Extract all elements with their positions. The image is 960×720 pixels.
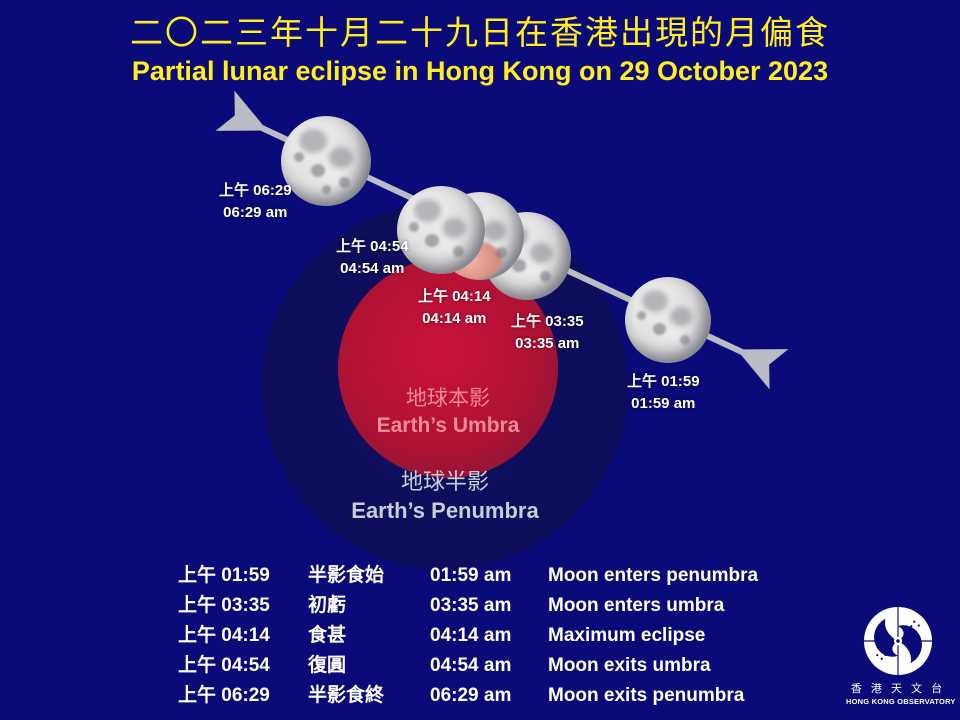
row-3-term-chinese: 復圓 — [308, 652, 430, 682]
row-0-term-chinese: 半影食始 — [308, 562, 430, 592]
hko-logo-english: HONG KONG OBSERVATORY — [846, 697, 950, 706]
callout-0335: 上午 03:35 03:35 am — [511, 311, 584, 355]
row-0-time-english: 01:59 am — [430, 562, 548, 592]
callout-0159: 上午 01:59 01:59 am — [627, 371, 700, 415]
hko-logo: 香 港 天 文 台 HONG KONG OBSERVATORY — [846, 604, 950, 706]
row-1-description: Moon enters umbra — [548, 592, 778, 622]
table-row: 上午 04:14 食甚 04:14 am Maximum eclipse — [178, 622, 778, 652]
penumbra-label-english: Earth’s Penumbra — [265, 497, 625, 526]
callout-0159-chinese: 上午 01:59 — [627, 371, 700, 393]
umbra-label: 地球本影 Earth’s Umbra — [338, 385, 558, 440]
row-3-description: Moon exits umbra — [548, 652, 778, 682]
eclipse-events-table: 上午 01:59 半影食始 01:59 am Moon enters penum… — [178, 562, 778, 712]
penumbra-label-chinese: 地球半影 — [265, 468, 625, 497]
callout-0335-english: 03:35 am — [511, 333, 584, 355]
row-0-description: Moon enters penumbra — [548, 562, 778, 592]
table-row: 上午 04:54 復圓 04:54 am Moon exits umbra — [178, 652, 778, 682]
callout-0629-english: 06:29 am — [219, 202, 292, 224]
row-2-description: Maximum eclipse — [548, 622, 778, 652]
umbra-label-chinese: 地球本影 — [338, 385, 558, 412]
moon-0454 — [397, 186, 485, 274]
callout-0454-chinese: 上午 04:54 — [336, 236, 409, 258]
callout-0454-english: 04:54 am — [336, 258, 409, 280]
row-0-time-chinese: 上午 01:59 — [178, 562, 308, 592]
callout-0454: 上午 04:54 04:54 am — [336, 236, 409, 280]
callout-0335-chinese: 上午 03:35 — [511, 311, 584, 333]
row-4-term-chinese: 半影食終 — [308, 682, 430, 712]
row-1-time-chinese: 上午 03:35 — [178, 592, 308, 622]
moon-0159 — [625, 277, 711, 363]
page-title: 二〇二三年十月二十九日在香港出現的月偏食 Partial lunar eclip… — [0, 14, 960, 87]
table-row: 上午 01:59 半影食始 01:59 am Moon enters penum… — [178, 562, 778, 592]
row-3-time-english: 04:54 am — [430, 652, 548, 682]
row-2-time-chinese: 上午 04:14 — [178, 622, 308, 652]
table-row: 上午 03:35 初虧 03:35 am Moon enters umbra — [178, 592, 778, 622]
umbra-label-english: Earth’s Umbra — [338, 412, 558, 439]
row-2-time-english: 04:14 am — [430, 622, 548, 652]
penumbra-label: 地球半影 Earth’s Penumbra — [265, 468, 625, 525]
row-1-term-chinese: 初虧 — [308, 592, 430, 622]
observatory-swirl-icon — [861, 604, 935, 678]
moon-0629 — [281, 116, 371, 206]
row-4-description: Moon exits penumbra — [548, 682, 778, 712]
callout-0414: 上午 04:14 04:14 am — [418, 286, 491, 330]
eclipse-infographic: 二〇二三年十月二十九日在香港出現的月偏食 Partial lunar eclip… — [0, 0, 960, 720]
row-4-time-chinese: 上午 06:29 — [178, 682, 308, 712]
callout-0629: 上午 06:29 06:29 am — [219, 180, 292, 224]
row-4-time-english: 06:29 am — [430, 682, 548, 712]
callout-0414-chinese: 上午 04:14 — [418, 286, 491, 308]
callout-0159-english: 01:59 am — [627, 393, 700, 415]
callout-0629-chinese: 上午 06:29 — [219, 180, 292, 202]
table-row: 上午 06:29 半影食終 06:29 am Moon exits penumb… — [178, 682, 778, 712]
row-1-time-english: 03:35 am — [430, 592, 548, 622]
page-title-chinese: 二〇二三年十月二十九日在香港出現的月偏食 — [0, 14, 960, 52]
row-3-time-chinese: 上午 04:54 — [178, 652, 308, 682]
row-2-term-chinese: 食甚 — [308, 622, 430, 652]
callout-0414-english: 04:14 am — [418, 308, 491, 330]
page-title-english: Partial lunar eclipse in Hong Kong on 29… — [0, 56, 960, 87]
hko-logo-chinese: 香 港 天 文 台 — [846, 680, 950, 696]
